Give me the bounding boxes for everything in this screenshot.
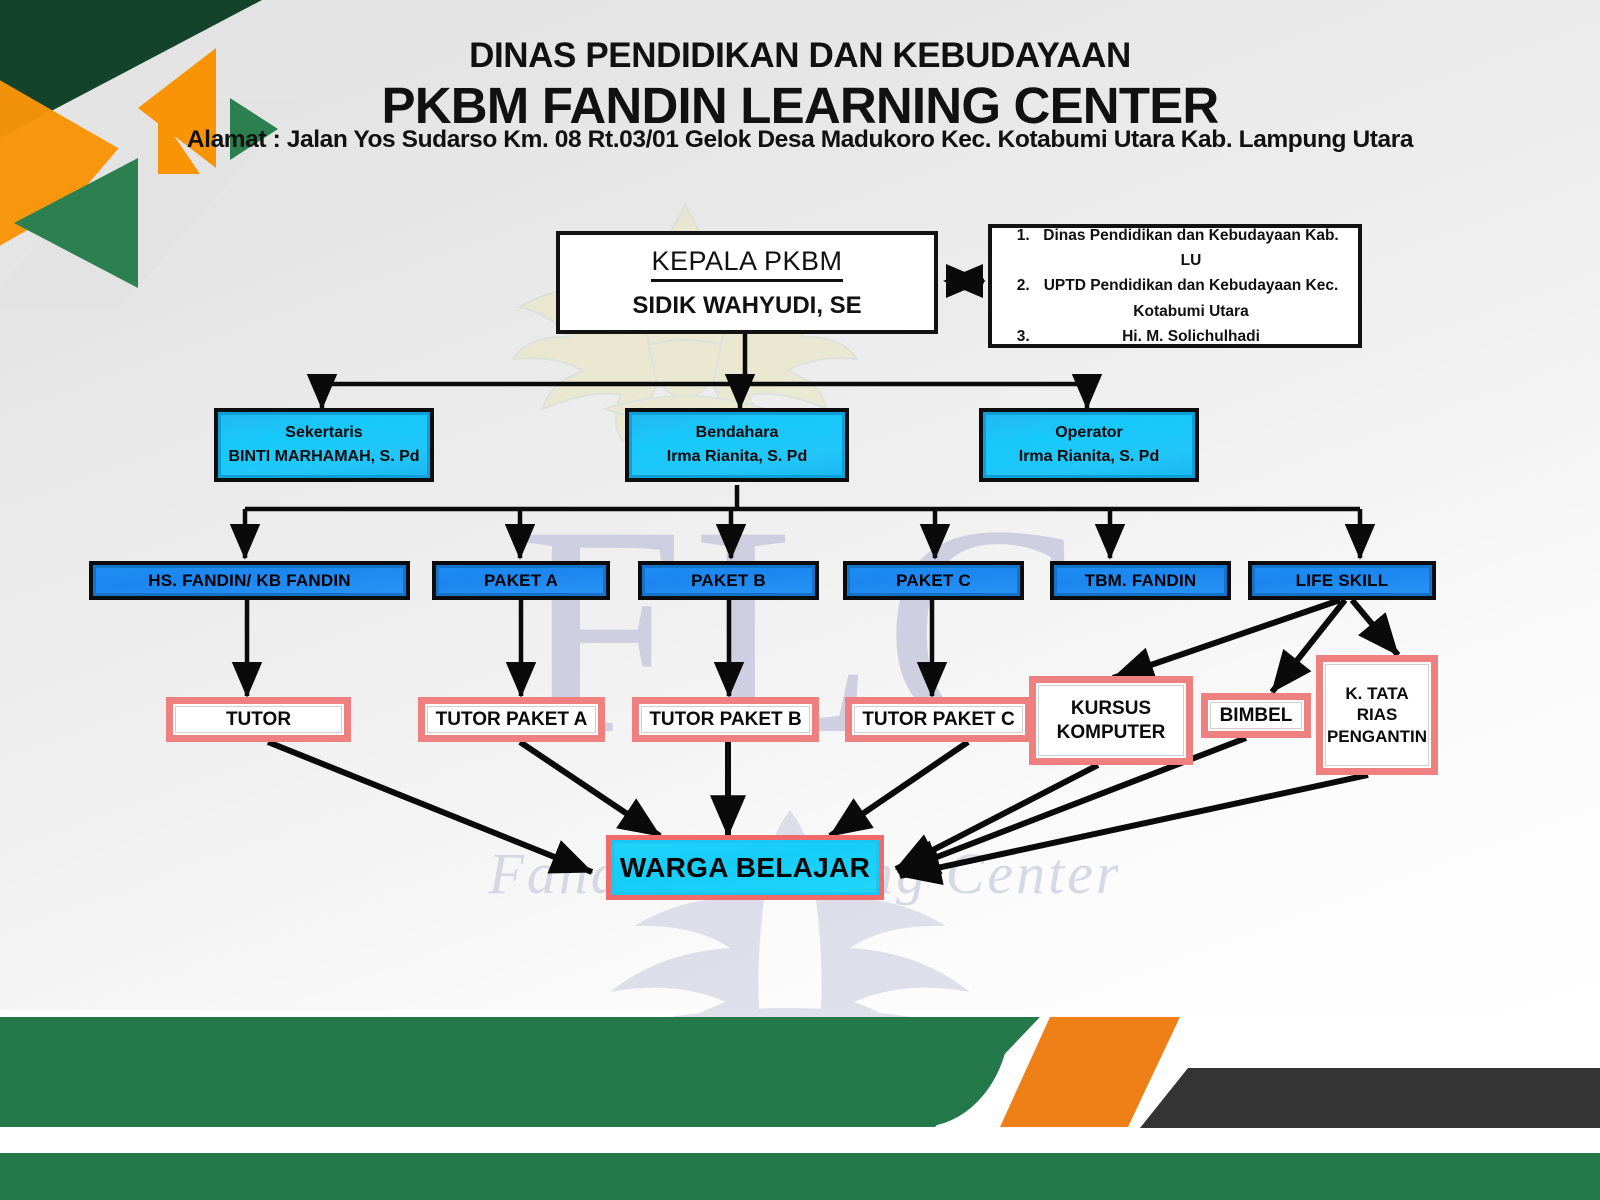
footer-green-bar bbox=[0, 1153, 1600, 1200]
tutor-paket-c-label: TUTOR PAKET C bbox=[862, 708, 1014, 732]
partner-item-3: Hi. M. Solichulhadi bbox=[1034, 324, 1344, 349]
node-sekertaris[interactable]: Sekertaris BINTI MARHAMAH, S. Pd bbox=[214, 408, 434, 482]
paket-b-label: PAKET B bbox=[691, 571, 766, 591]
operator-title: Operator bbox=[1055, 421, 1123, 445]
node-tutor-paket-a[interactable]: TUTOR PAKET A bbox=[418, 697, 605, 742]
node-paket-c[interactable]: PAKET C bbox=[843, 561, 1024, 600]
kursus-komputer-line1: KURSUS bbox=[1071, 697, 1151, 721]
kursus-komputer-line2: KOMPUTER bbox=[1057, 721, 1166, 745]
node-kursus-komputer[interactable]: KURSUS KOMPUTER bbox=[1029, 676, 1193, 765]
tutor-label: TUTOR bbox=[226, 708, 291, 732]
node-tbm-fandin[interactable]: TBM. FANDIN bbox=[1050, 561, 1231, 600]
tata-rias-line1: K. TATA bbox=[1345, 683, 1408, 704]
node-warga-belajar[interactable]: WARGA BELAJAR bbox=[606, 835, 884, 900]
node-kepala-pkbm[interactable]: KEPALA PKBM SIDIK WAHYUDI, SE bbox=[556, 231, 938, 334]
node-bendahara[interactable]: Bendahara Irma Rianita, S. Pd bbox=[625, 408, 849, 482]
node-tutor-paket-c[interactable]: TUTOR PAKET C bbox=[845, 697, 1032, 742]
kepala-name: SIDIK WAHYUDI, SE bbox=[632, 292, 861, 320]
tata-rias-line3: PENGANTIN bbox=[1327, 726, 1427, 747]
node-life-skill[interactable]: LIFE SKILL bbox=[1248, 561, 1436, 600]
tutor-paket-b-label: TUTOR PAKET B bbox=[649, 708, 801, 732]
node-paket-b[interactable]: PAKET B bbox=[638, 561, 819, 600]
footer-green-ribbon bbox=[0, 1017, 1010, 1127]
node-tutor[interactable]: TUTOR bbox=[166, 697, 351, 742]
node-tutor-paket-b[interactable]: TUTOR PAKET B bbox=[632, 697, 819, 742]
footer-dark-ribbon bbox=[1140, 1068, 1600, 1128]
tutor-paket-a-label: TUTOR PAKET A bbox=[436, 708, 588, 732]
paket-a-label: PAKET A bbox=[484, 571, 558, 591]
sekertaris-name: BINTI MARHAMAH, S. Pd bbox=[228, 445, 419, 469]
node-hs-fandin[interactable]: HS. FANDIN/ KB FANDIN bbox=[89, 561, 410, 600]
paket-c-label: PAKET C bbox=[896, 571, 971, 591]
warga-belajar-label: WARGA BELAJAR bbox=[620, 852, 870, 884]
partner-item-2: UPTD Pendidikan dan Kebudayaan Kec. Kota… bbox=[1034, 273, 1344, 323]
bendahara-title: Bendahara bbox=[696, 421, 779, 445]
kepala-title: KEPALA PKBM bbox=[651, 246, 842, 282]
node-tata-rias[interactable]: K. TATA RIAS PENGANTIN bbox=[1316, 655, 1438, 775]
bimbel-label: BIMBEL bbox=[1220, 704, 1293, 728]
node-bimbel[interactable]: BIMBEL bbox=[1201, 693, 1311, 738]
life-skill-label: LIFE SKILL bbox=[1296, 571, 1389, 591]
sekertaris-title: Sekertaris bbox=[285, 421, 362, 445]
bendahara-name: Irma Rianita, S. Pd bbox=[667, 445, 807, 469]
node-paket-a[interactable]: PAKET A bbox=[432, 561, 610, 600]
tata-rias-line2: RIAS bbox=[1357, 704, 1398, 725]
operator-name: Irma Rianita, S. Pd bbox=[1019, 445, 1159, 469]
tbm-fandin-label: TBM. FANDIN bbox=[1085, 571, 1197, 591]
node-operator[interactable]: Operator Irma Rianita, S. Pd bbox=[979, 408, 1199, 482]
partner-item-1: Dinas Pendidikan dan Kebudayaan Kab. LU bbox=[1034, 223, 1344, 273]
node-partner-list[interactable]: Dinas Pendidikan dan Kebudayaan Kab. LU … bbox=[988, 224, 1362, 348]
hs-fandin-label: HS. FANDIN/ KB FANDIN bbox=[148, 571, 351, 591]
slide-canvas: DINAS PENDIDIKAN DAN KEBUDAYAAN PKBM FAN… bbox=[0, 0, 1600, 1200]
